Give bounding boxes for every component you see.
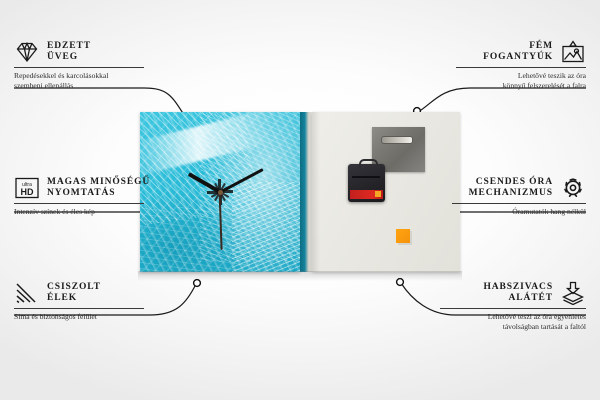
callout-title-line1: MAGAS MINŐSÉGŰ bbox=[47, 177, 150, 187]
product-shadow bbox=[138, 271, 462, 281]
hanger-slot bbox=[381, 136, 413, 144]
polished-edges-icon bbox=[14, 281, 40, 305]
callout-divider bbox=[440, 308, 586, 309]
callout-subtitle-line2: távolságban tartását a faltól bbox=[503, 322, 586, 331]
callout-silent-mechanism: CSENDES ÓRAMECHANIZMUS Óramutatók hang n… bbox=[446, 176, 586, 217]
callout-subtitle: Repedésekkel és karcolásokkal szembeni e… bbox=[14, 71, 154, 90]
callout-subtitle-line2: könnyű felszerelését a falra bbox=[503, 81, 586, 90]
callout-title-line2: FOGANTYÚK bbox=[483, 52, 553, 62]
callout-title-line1: EDZETT bbox=[47, 41, 91, 51]
callout-divider bbox=[14, 203, 144, 204]
callout-subtitle-line1: Repedésekkel és karcolásokkal bbox=[14, 71, 108, 80]
callout-tempered-glass: EDZETTÜVEG Repedésekkel és karcolásokkal… bbox=[14, 40, 154, 90]
callout-subtitle: Lehetővé teszi az óra egyenletes távolsá… bbox=[440, 312, 586, 331]
callout-divider bbox=[456, 67, 586, 68]
callout-subtitle-line1: Lehetővé teszik az óra bbox=[518, 71, 586, 80]
callout-title-line2: ÜVEG bbox=[47, 52, 78, 62]
callout-subtitle-line1: Intenzív színek és éles kép bbox=[14, 207, 95, 216]
callout-subtitle-line1: Lehetővé teszi az óra egyenletes bbox=[488, 312, 586, 321]
callout-title-line1: FÉM bbox=[529, 41, 553, 51]
callout-title-line1: CSISZOLT bbox=[47, 282, 101, 292]
foam-layers-icon bbox=[560, 281, 586, 305]
mechanism-loop bbox=[359, 159, 378, 169]
picture-hook-icon bbox=[560, 40, 586, 64]
callout-foam-pad: HABSZIVACSALÁTÉT Lehetővé teszi az óra e… bbox=[440, 281, 586, 331]
callout-polished-edges: CSISZOLTÉLEK Sima és biztonságos felület bbox=[14, 281, 154, 322]
callout-divider bbox=[14, 308, 144, 309]
callout-subtitle-line1: Sima és biztonságos felület bbox=[14, 312, 97, 321]
callout-subtitle-line2: szembeni ellenállás bbox=[14, 81, 73, 90]
clock-hub bbox=[218, 190, 223, 195]
callout-title-line2: MECHANIZMUS bbox=[469, 188, 553, 198]
callout-subtitle: Intenzív színek és éles kép bbox=[14, 207, 164, 217]
diamond-icon bbox=[14, 40, 40, 64]
svg-text:HD: HD bbox=[21, 187, 34, 197]
ultra-hd-icon: ultra HD bbox=[14, 176, 40, 200]
clock-back-panel bbox=[312, 112, 460, 272]
clock-tick bbox=[166, 191, 220, 193]
infographic-stage: EDZETTÜVEG Repedésekkel és karcolásokkal… bbox=[0, 0, 600, 400]
callout-divider bbox=[452, 203, 586, 204]
callout-title-line1: CSENDES ÓRA bbox=[476, 177, 553, 187]
callout-subtitle: Lehetővé teszik az óra könnyű felszerelé… bbox=[450, 71, 586, 90]
callout-high-quality-print: ultra HD MAGAS MINŐSÉGŰNYOMTATÁS Intenzí… bbox=[14, 176, 164, 217]
callout-title-line2: NYOMTATÁS bbox=[47, 188, 115, 198]
feather-texture bbox=[232, 182, 300, 272]
callout-title-line2: ÉLEK bbox=[47, 293, 77, 303]
mechanism-slit bbox=[352, 176, 380, 178]
callout-metal-hooks: FÉMFOGANTYÚK Lehetővé teszik az óra könn… bbox=[450, 40, 586, 90]
callout-title-line2: ALÁTÉT bbox=[509, 293, 553, 303]
callout-subtitle: Óramutatók hang nélkül bbox=[446, 207, 586, 217]
clock-tick bbox=[219, 138, 221, 192]
clock-tick bbox=[220, 191, 274, 193]
mechanism-label bbox=[350, 190, 383, 199]
callout-divider bbox=[14, 67, 144, 68]
callout-subtitle-line1: Óramutatók hang nélkül bbox=[512, 207, 586, 216]
product-image bbox=[140, 112, 460, 280]
callout-title-line1: HABSZIVACS bbox=[483, 282, 553, 292]
foam-pad bbox=[396, 229, 410, 243]
leader-hooks bbox=[418, 88, 586, 112]
callout-subtitle: Sima és biztonságos felület bbox=[14, 312, 154, 322]
gear-icon bbox=[560, 176, 586, 200]
panel-edge bbox=[300, 112, 312, 272]
clock-face-panel bbox=[140, 112, 300, 272]
clock-mechanism bbox=[348, 164, 385, 202]
